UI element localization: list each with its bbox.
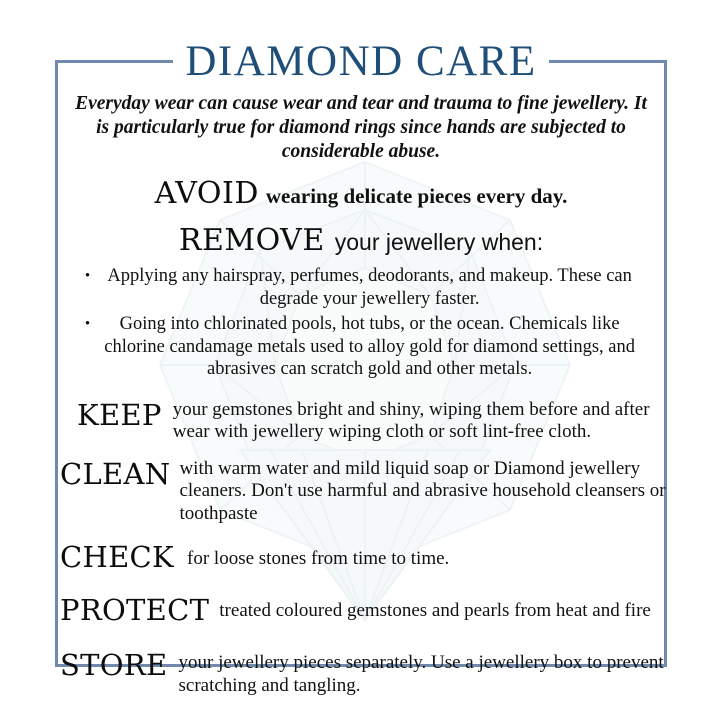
avoid-line: AVOIDwearing delicate pieces every day.	[55, 176, 667, 211]
list-item: • Going into chlorinated pools, hot tubs…	[55, 313, 667, 381]
remove-body: your jewellery when:	[325, 229, 543, 255]
section-store: STORE your jewellery pieces separately. …	[60, 649, 667, 697]
poster-content: DIAMOND CARE Everyday wear can cause wea…	[55, 38, 667, 697]
section-keyword-protect: PROTECT	[60, 594, 209, 625]
page-title-container: DIAMOND CARE	[55, 38, 667, 88]
remove-line: REMOVEyour jewellery when:	[55, 223, 667, 258]
page-title-backdrop: DIAMOND CARE	[173, 38, 548, 88]
remove-keyword: REMOVE	[179, 223, 325, 258]
list-item: • Applying any hairspray, perfumes, deod…	[55, 265, 667, 310]
bullet-dot-icon: •	[85, 265, 102, 287]
section-keyword-check: CHECK	[60, 541, 174, 572]
intro-paragraph: Everyday wear can cause wear and tear an…	[73, 92, 649, 164]
section-check: CHECK for loose stones from time to time…	[60, 541, 667, 572]
avoid-keyword: AVOID	[155, 176, 259, 211]
section-body-keep: your gemstones bright and shiny, wiping …	[162, 399, 667, 444]
remove-bullet-list: • Applying any hairspray, perfumes, deod…	[55, 265, 667, 381]
section-keyword-clean: CLEAN	[60, 458, 170, 489]
section-body-clean: with warm water and mild liquid soap or …	[170, 458, 667, 526]
section-body-store: your jewellery pieces separately. Use a …	[168, 649, 668, 697]
avoid-body: wearing delicate pieces every day.	[259, 184, 568, 208]
section-keyword-store: STORE	[60, 649, 168, 680]
list-item-text: Going into chlorinated pools, hot tubs, …	[102, 313, 637, 381]
diamond-care-poster: DIAMOND CARE Everyday wear can cause wea…	[0, 0, 720, 720]
section-keep: KEEP your gemstones bright and shiny, wi…	[77, 399, 667, 444]
section-keyword-keep: KEEP	[77, 399, 162, 430]
section-protect: PROTECT treated coloured gemstones and p…	[60, 594, 667, 625]
section-clean: CLEAN with warm water and mild liquid so…	[60, 458, 667, 526]
section-body-protect: treated coloured gemstones and pearls fr…	[209, 594, 667, 623]
bullet-dot-icon: •	[85, 313, 102, 335]
list-item-text: Applying any hairspray, perfumes, deodor…	[102, 265, 637, 310]
page-title: DIAMOND CARE	[185, 38, 536, 88]
section-body-check: for loose stones from time to time.	[174, 541, 667, 571]
